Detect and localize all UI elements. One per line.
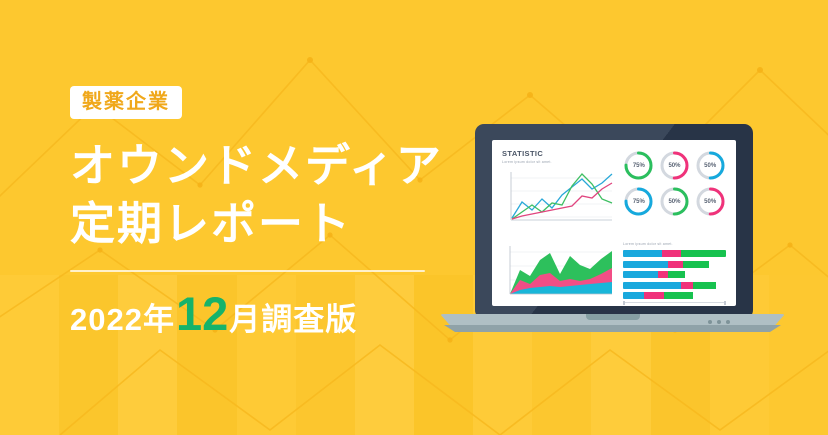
laptop-illustration: STATISTIC Lorem ipsum dolor sit amet.: [440, 124, 785, 339]
bar-row: [623, 250, 726, 257]
survey-suffix: 月調査版: [229, 294, 357, 339]
page-title-line-1: オウンドメディア: [70, 137, 450, 195]
donut-chart: 50%: [695, 186, 726, 217]
donut-chart: 75%: [623, 150, 654, 181]
donut-value: 50%: [695, 150, 726, 181]
statistic-title: STATISTIC: [502, 149, 614, 158]
laptop-hinge-notch: [586, 314, 640, 320]
bar-chart-subtitle: Lorem ipsum dolor sit amet.: [623, 242, 726, 246]
donut-value: 50%: [695, 186, 726, 217]
laptop-base-shadow: [440, 325, 785, 332]
line-chart: [502, 168, 614, 233]
survey-month: 12: [176, 290, 228, 337]
donut-chart: 50%: [659, 186, 690, 217]
area-chart: [502, 240, 614, 302]
statistic-panel: STATISTIC Lorem ipsum dolor sit amet.: [502, 149, 614, 233]
bar-chart-axis: [623, 302, 726, 303]
survey-date: 2022年 12 月調査版: [70, 290, 450, 339]
donut-chart: 50%: [695, 150, 726, 181]
hero-text-block: 製薬企業 オウンドメディア 定期レポート 2022年 12 月調査版: [70, 86, 450, 339]
bar-chart-panel: Lorem ipsum dolor sit amet.: [623, 240, 726, 306]
donut-value: 75%: [623, 150, 654, 181]
area-chart-panel: [502, 240, 614, 306]
survey-year: 2022年: [70, 294, 175, 339]
laptop-base-dots: [708, 320, 730, 324]
donut-chart: 75%: [623, 186, 654, 217]
page-title-line-2: 定期レポート: [70, 195, 450, 253]
bar-row: [623, 261, 726, 268]
donut-metrics-panel: 75% 50% 50% 75% 50% 50%: [623, 149, 726, 233]
page-title: オウンドメディア 定期レポート: [70, 137, 450, 252]
horizontal-bar-list: [623, 250, 726, 299]
category-badge: 製薬企業: [70, 86, 182, 119]
bar-row: [623, 271, 726, 278]
title-divider: [70, 270, 425, 272]
statistic-subtitle: Lorem ipsum dolor sit amet.: [502, 160, 614, 164]
donut-value: 50%: [659, 186, 690, 217]
donut-value: 50%: [659, 150, 690, 181]
donut-value: 75%: [623, 186, 654, 217]
donut-grid: 75% 50% 50% 75% 50% 50%: [623, 150, 726, 217]
bar-row: [623, 292, 726, 299]
donut-chart: 50%: [659, 150, 690, 181]
laptop-screen: STATISTIC Lorem ipsum dolor sit amet.: [492, 140, 736, 306]
bar-row: [623, 282, 726, 289]
